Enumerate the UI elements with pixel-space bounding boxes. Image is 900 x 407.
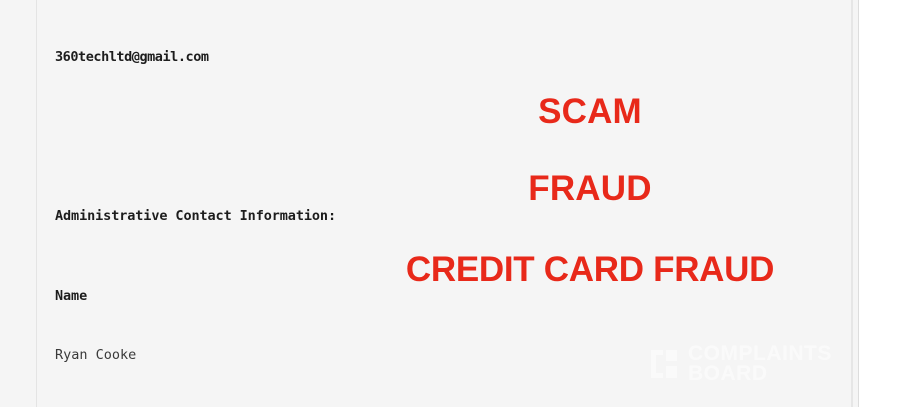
annotation-fraud: FRAUD (380, 171, 800, 206)
value-name: Ryan Cooke (55, 347, 136, 363)
whois-section-heading: Administrative Contact Information: (55, 208, 336, 224)
annotation-credit-card-fraud: CREDIT CARD FRAUD (380, 252, 800, 287)
page-left-rule (36, 0, 37, 407)
page-right-rule (851, 0, 853, 407)
whois-top-email: 360techltd@gmail.com (55, 49, 209, 65)
annotation-scam: SCAM (380, 94, 800, 129)
fraud-annotation-overlay: SCAM FRAUD CREDIT CARD FRAUD (380, 0, 800, 407)
label-name: Name (55, 288, 87, 304)
screenshot-root: 360techltd@gmail.com Administrative Cont… (0, 0, 900, 407)
document-page: 360techltd@gmail.com Administrative Cont… (0, 0, 859, 407)
outer-white-gutter (859, 0, 900, 407)
